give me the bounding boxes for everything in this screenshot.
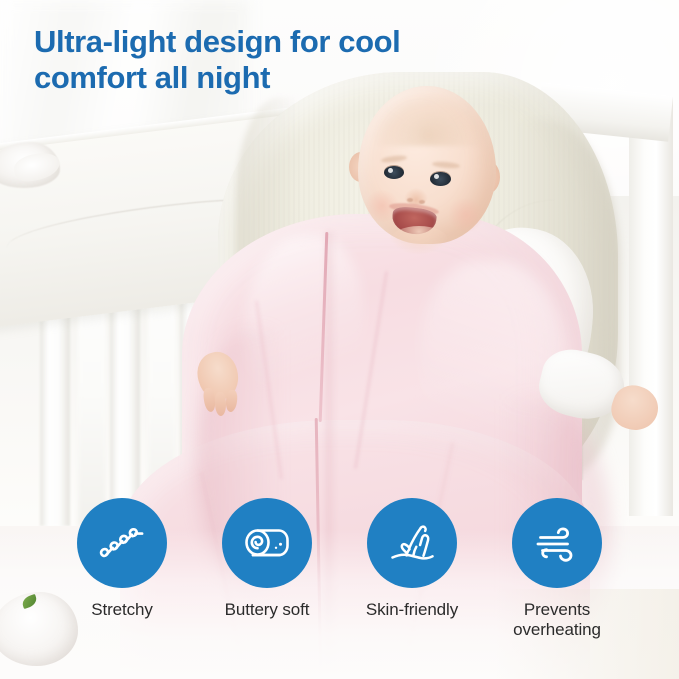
feature-badge (367, 498, 457, 588)
feature-badge (512, 498, 602, 588)
feature-badge (77, 498, 167, 588)
baby-cheek-right (447, 198, 485, 232)
feature-row: Stretchy Buttery soft (0, 498, 679, 640)
feature-item-stretchy: Stretchy (56, 498, 188, 640)
fabric-roll-icon (239, 515, 295, 571)
feature-item-prevents-overheating: Prevents overheating (491, 498, 623, 640)
feature-label: Stretchy (91, 600, 153, 620)
hand-touching-fabric-icon (384, 515, 440, 571)
feature-label: Buttery soft (225, 600, 310, 620)
baby-hair (372, 92, 484, 146)
spring-coil-icon (94, 515, 150, 571)
airflow-wind-icon (529, 515, 585, 571)
baby-nostril-left (407, 198, 413, 202)
feature-badge (222, 498, 312, 588)
feature-item-skin-friendly: Skin-friendly (346, 498, 478, 640)
feature-label: Prevents overheating (513, 600, 601, 640)
baby-nostril-right (419, 200, 425, 204)
product-feature-image: Ultra-light design for cool comfort all … (0, 0, 679, 679)
baby-chin (390, 226, 448, 254)
feature-label: Skin-friendly (366, 600, 458, 620)
baby-eye-left (384, 166, 404, 179)
crib-corner-post (629, 96, 673, 516)
baby-eye-right (430, 172, 451, 186)
page-title: Ultra-light design for cool comfort all … (34, 24, 504, 97)
baby-finger (215, 392, 227, 416)
feature-item-buttery-soft: Buttery soft (201, 498, 333, 640)
